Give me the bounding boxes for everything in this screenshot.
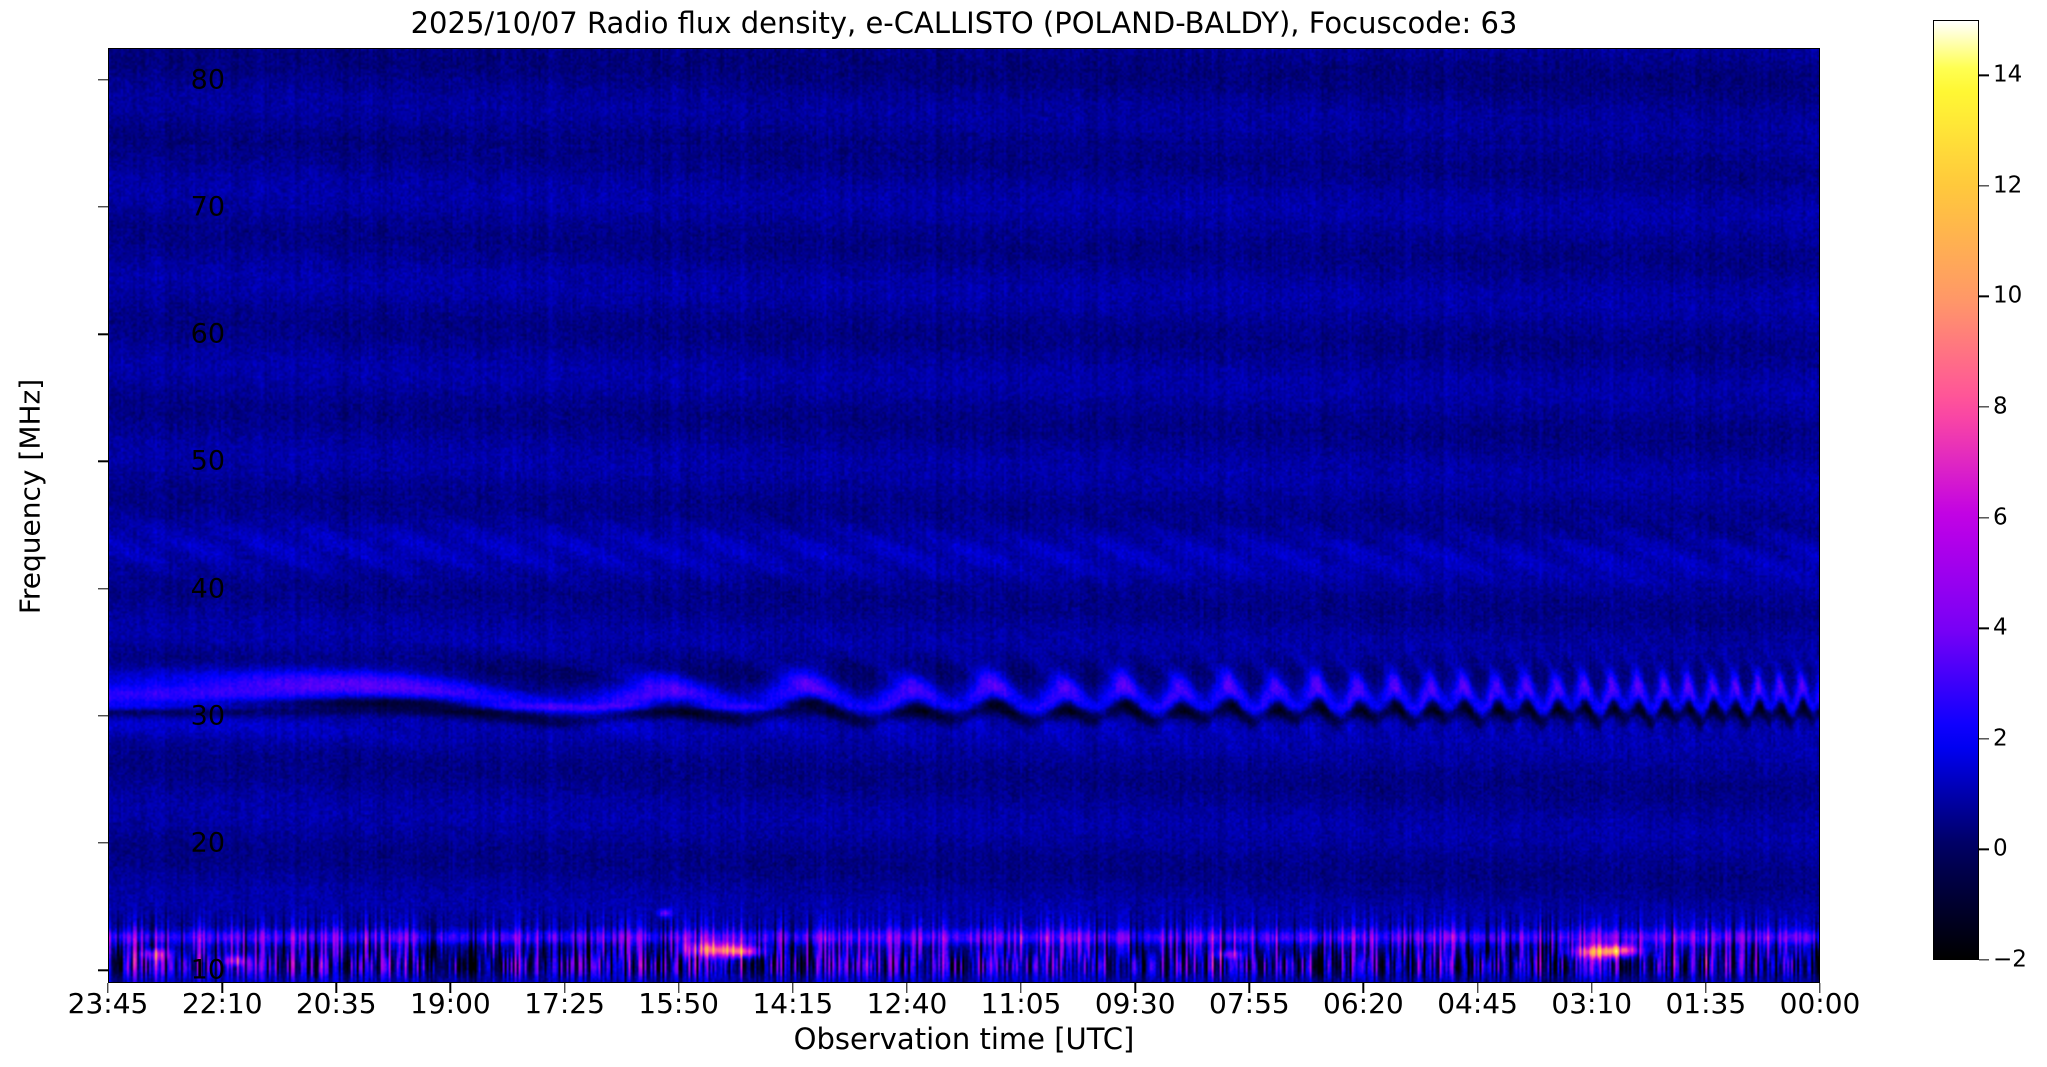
colorbar-tick-label: 0	[1993, 838, 2008, 861]
x-tick-label: 20:35	[296, 990, 377, 1018]
y-tick-label: 50	[191, 448, 225, 475]
y-tick-label: 10	[191, 957, 225, 984]
colorbar-tick-label: 14	[1993, 64, 2022, 87]
colorbar-tick-mark	[1979, 628, 1989, 629]
colorbar-tick-label: 8	[1993, 396, 2008, 419]
x-tick-mark	[450, 983, 451, 993]
y-tick-mark	[98, 334, 108, 335]
x-tick-mark	[221, 983, 222, 993]
x-tick-label: 09:30	[1095, 990, 1176, 1018]
colorbar-tick-label: 12	[1993, 174, 2022, 197]
colorbar-tick-label: −2	[1993, 949, 2027, 972]
y-tick-mark	[98, 588, 108, 589]
y-tick-mark	[98, 206, 108, 207]
y-tick-label: 60	[191, 321, 225, 348]
y-axis-label: Frequency [MHz]	[14, 27, 47, 967]
x-axis-label: Observation time [UTC]	[108, 1022, 1820, 1056]
colorbar-tick-label: 4	[1993, 617, 2008, 640]
spectrogram-figure: 2025/10/07 Radio flux density, e-CALLIST…	[0, 0, 2047, 1067]
colorbar-tick-mark	[1979, 296, 1989, 297]
y-tick-label: 80	[191, 66, 225, 93]
x-tick-mark	[107, 983, 108, 993]
x-tick-label: 11:05	[981, 990, 1062, 1018]
x-tick-mark	[564, 983, 565, 993]
x-tick-label: 03:10	[1551, 990, 1632, 1018]
y-tick-mark	[98, 461, 108, 462]
x-tick-mark	[1591, 983, 1592, 993]
x-tick-mark	[1363, 983, 1364, 993]
x-tick-mark	[1705, 983, 1706, 993]
colorbar-tick-mark	[1979, 959, 1989, 960]
x-tick-mark	[1134, 983, 1135, 993]
x-tick-label: 15:50	[638, 990, 719, 1018]
x-tick-mark	[678, 983, 679, 993]
x-tick-label: 22:10	[182, 990, 263, 1018]
y-tick-mark	[98, 970, 108, 971]
x-tick-label: 04:45	[1437, 990, 1518, 1018]
colorbar-tick-mark	[1979, 406, 1989, 407]
spectrogram-axes[interactable]	[108, 48, 1820, 983]
x-tick-label: 14:15	[752, 990, 833, 1018]
x-tick-mark	[1819, 983, 1820, 993]
colorbar-tick-mark	[1979, 738, 1989, 739]
y-tick-mark	[98, 79, 108, 80]
colorbar-tick-label: 10	[1993, 285, 2022, 308]
colorbar-tick-mark	[1979, 517, 1989, 518]
colorbar-tick-label: 6	[1993, 506, 2008, 529]
colorbar-tick-mark	[1979, 75, 1989, 76]
x-tick-label: 07:55	[1209, 990, 1290, 1018]
colorbar-tick-label: 2	[1993, 727, 2008, 750]
x-tick-mark	[792, 983, 793, 993]
x-tick-label: 06:20	[1323, 990, 1404, 1018]
spectrogram-image	[109, 49, 1819, 982]
x-tick-label: 12:40	[867, 990, 948, 1018]
x-tick-mark	[336, 983, 337, 993]
x-tick-label: 17:25	[524, 990, 605, 1018]
colorbar-tick-mark	[1979, 849, 1989, 850]
y-tick-label: 70	[191, 194, 225, 221]
x-tick-mark	[1020, 983, 1021, 993]
y-tick-label: 20	[191, 830, 225, 857]
y-tick-label: 40	[191, 575, 225, 602]
x-tick-mark	[906, 983, 907, 993]
x-tick-label: 01:35	[1665, 990, 1746, 1018]
y-tick-mark	[98, 842, 108, 843]
colorbar-tick-mark	[1979, 185, 1989, 186]
x-tick-label: 23:45	[68, 990, 149, 1018]
x-tick-label: 19:00	[410, 990, 491, 1018]
x-tick-mark	[1477, 983, 1478, 993]
y-tick-label: 30	[191, 702, 225, 729]
colorbar[interactable]	[1933, 20, 1979, 960]
figure-title: 2025/10/07 Radio flux density, e-CALLIST…	[108, 6, 1820, 40]
x-tick-mark	[1249, 983, 1250, 993]
x-tick-label: 00:00	[1780, 990, 1861, 1018]
y-tick-mark	[98, 715, 108, 716]
colorbar-gradient	[1934, 21, 1978, 959]
